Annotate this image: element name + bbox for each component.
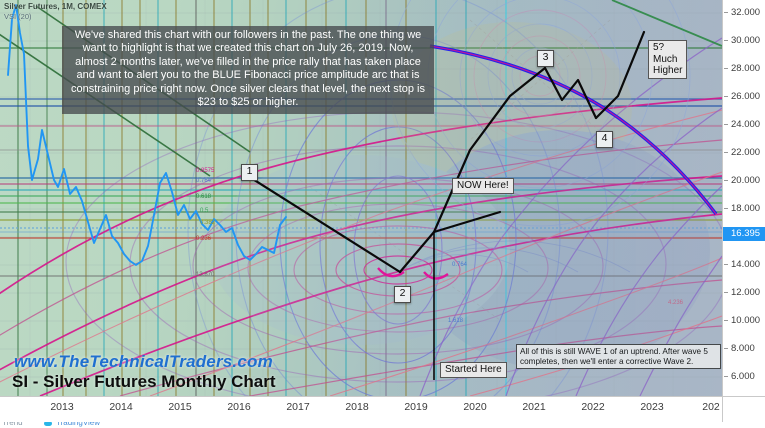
- started-here-label: Started Here: [440, 362, 507, 378]
- wave-label-2: 2: [394, 286, 411, 303]
- fib-label-0-618: 0.618: [196, 194, 211, 200]
- now-here-label: NOW Here!: [452, 178, 514, 194]
- current-price-badge[interactable]: 16.395: [723, 227, 765, 241]
- price-tick-20: 20.000: [723, 175, 765, 187]
- price-tick-8: 8.000: [723, 343, 765, 355]
- fib-label-0: 13.870: [196, 272, 214, 278]
- axis-corner: [722, 396, 765, 423]
- price-tick-28: 28.000: [723, 63, 765, 75]
- price-tick-32: 32.000: [723, 7, 765, 19]
- price-tick-24: 24.000: [723, 119, 765, 131]
- status-bar-label: Trend: [2, 422, 23, 427]
- chart-title: SI - Silver Futures Monthly Chart: [12, 372, 276, 392]
- year-tick-2018: 2018: [345, 401, 368, 413]
- fib-arc-label-4-236: 4.236: [668, 300, 683, 306]
- year-tick-2017: 2017: [286, 401, 309, 413]
- price-tick-18: 18.000: [723, 203, 765, 215]
- year-tick-2019: 2019: [404, 401, 427, 413]
- price-tick-14: 14.000: [723, 259, 765, 271]
- price-tick-6: 6.000: [723, 371, 765, 383]
- wave-label-3: 3: [537, 50, 554, 67]
- wave-count-note: All of this is still WAVE 1 of an uptren…: [516, 344, 721, 369]
- fib-label-0-8575: 0.8575: [196, 168, 214, 174]
- price-tick-30: 30.000: [723, 35, 765, 47]
- fib-label-0-764: 0.764: [196, 178, 211, 184]
- status-bar-logo-icon: [44, 422, 52, 426]
- year-tick-2021: 2021: [522, 401, 545, 413]
- status-bar: Trend TradingView: [0, 422, 765, 428]
- year-tick-2015: 2015: [168, 401, 191, 413]
- price-tick-12: 12.000: [723, 287, 765, 299]
- year-tick-2014: 2014: [109, 401, 132, 413]
- fib-arc-label-0-764: 0.764: [452, 262, 467, 268]
- fib-label-0-382: 0.382: [200, 220, 215, 226]
- wave-label-4: 4: [596, 131, 613, 148]
- year-tick-2023: 2023: [640, 401, 663, 413]
- year-tick-2013: 2013: [50, 401, 73, 413]
- target-label: 5? Much Higher: [648, 40, 687, 79]
- price-tick-26: 26.000: [723, 91, 765, 103]
- chart-symbol-label: Silver Futures, 1M, COMEX: [4, 2, 107, 11]
- chart-indicator-label: VSI (20): [4, 12, 32, 21]
- year-tick-2020: 2020: [463, 401, 486, 413]
- chart-screenshot: 0.8575 0.764 0.618 0.5 0.382 0.236 13.87…: [0, 0, 765, 428]
- year-tick-2022: 2022: [581, 401, 604, 413]
- price-tick-10: 10.000: [723, 315, 765, 327]
- fib-arc-label-1-618: 1.618: [448, 318, 463, 324]
- wave-label-1: 1: [241, 164, 258, 181]
- price-axis[interactable]: 32.000 30.000 28.000 26.000 24.000 22.00…: [722, 0, 765, 396]
- brand-website-url[interactable]: www.TheTechnicalTraders.com: [14, 352, 273, 372]
- main-annotation-callout: We've shared this chart with our followe…: [62, 26, 434, 114]
- price-tick-22: 22.000: [723, 147, 765, 159]
- fib-label-0-5: 0.5: [200, 208, 208, 214]
- chart-plot-area[interactable]: 0.8575 0.764 0.618 0.5 0.382 0.236 13.87…: [0, 0, 722, 396]
- fib-label-0-236: 0.236: [196, 236, 211, 242]
- year-tick-2016: 2016: [227, 401, 250, 413]
- time-axis[interactable]: 2013 2014 2015 2016 2017 2018 2019 2020 …: [0, 396, 722, 423]
- status-bar-link[interactable]: TradingView: [56, 422, 100, 427]
- year-tick-2024: 202: [702, 401, 720, 413]
